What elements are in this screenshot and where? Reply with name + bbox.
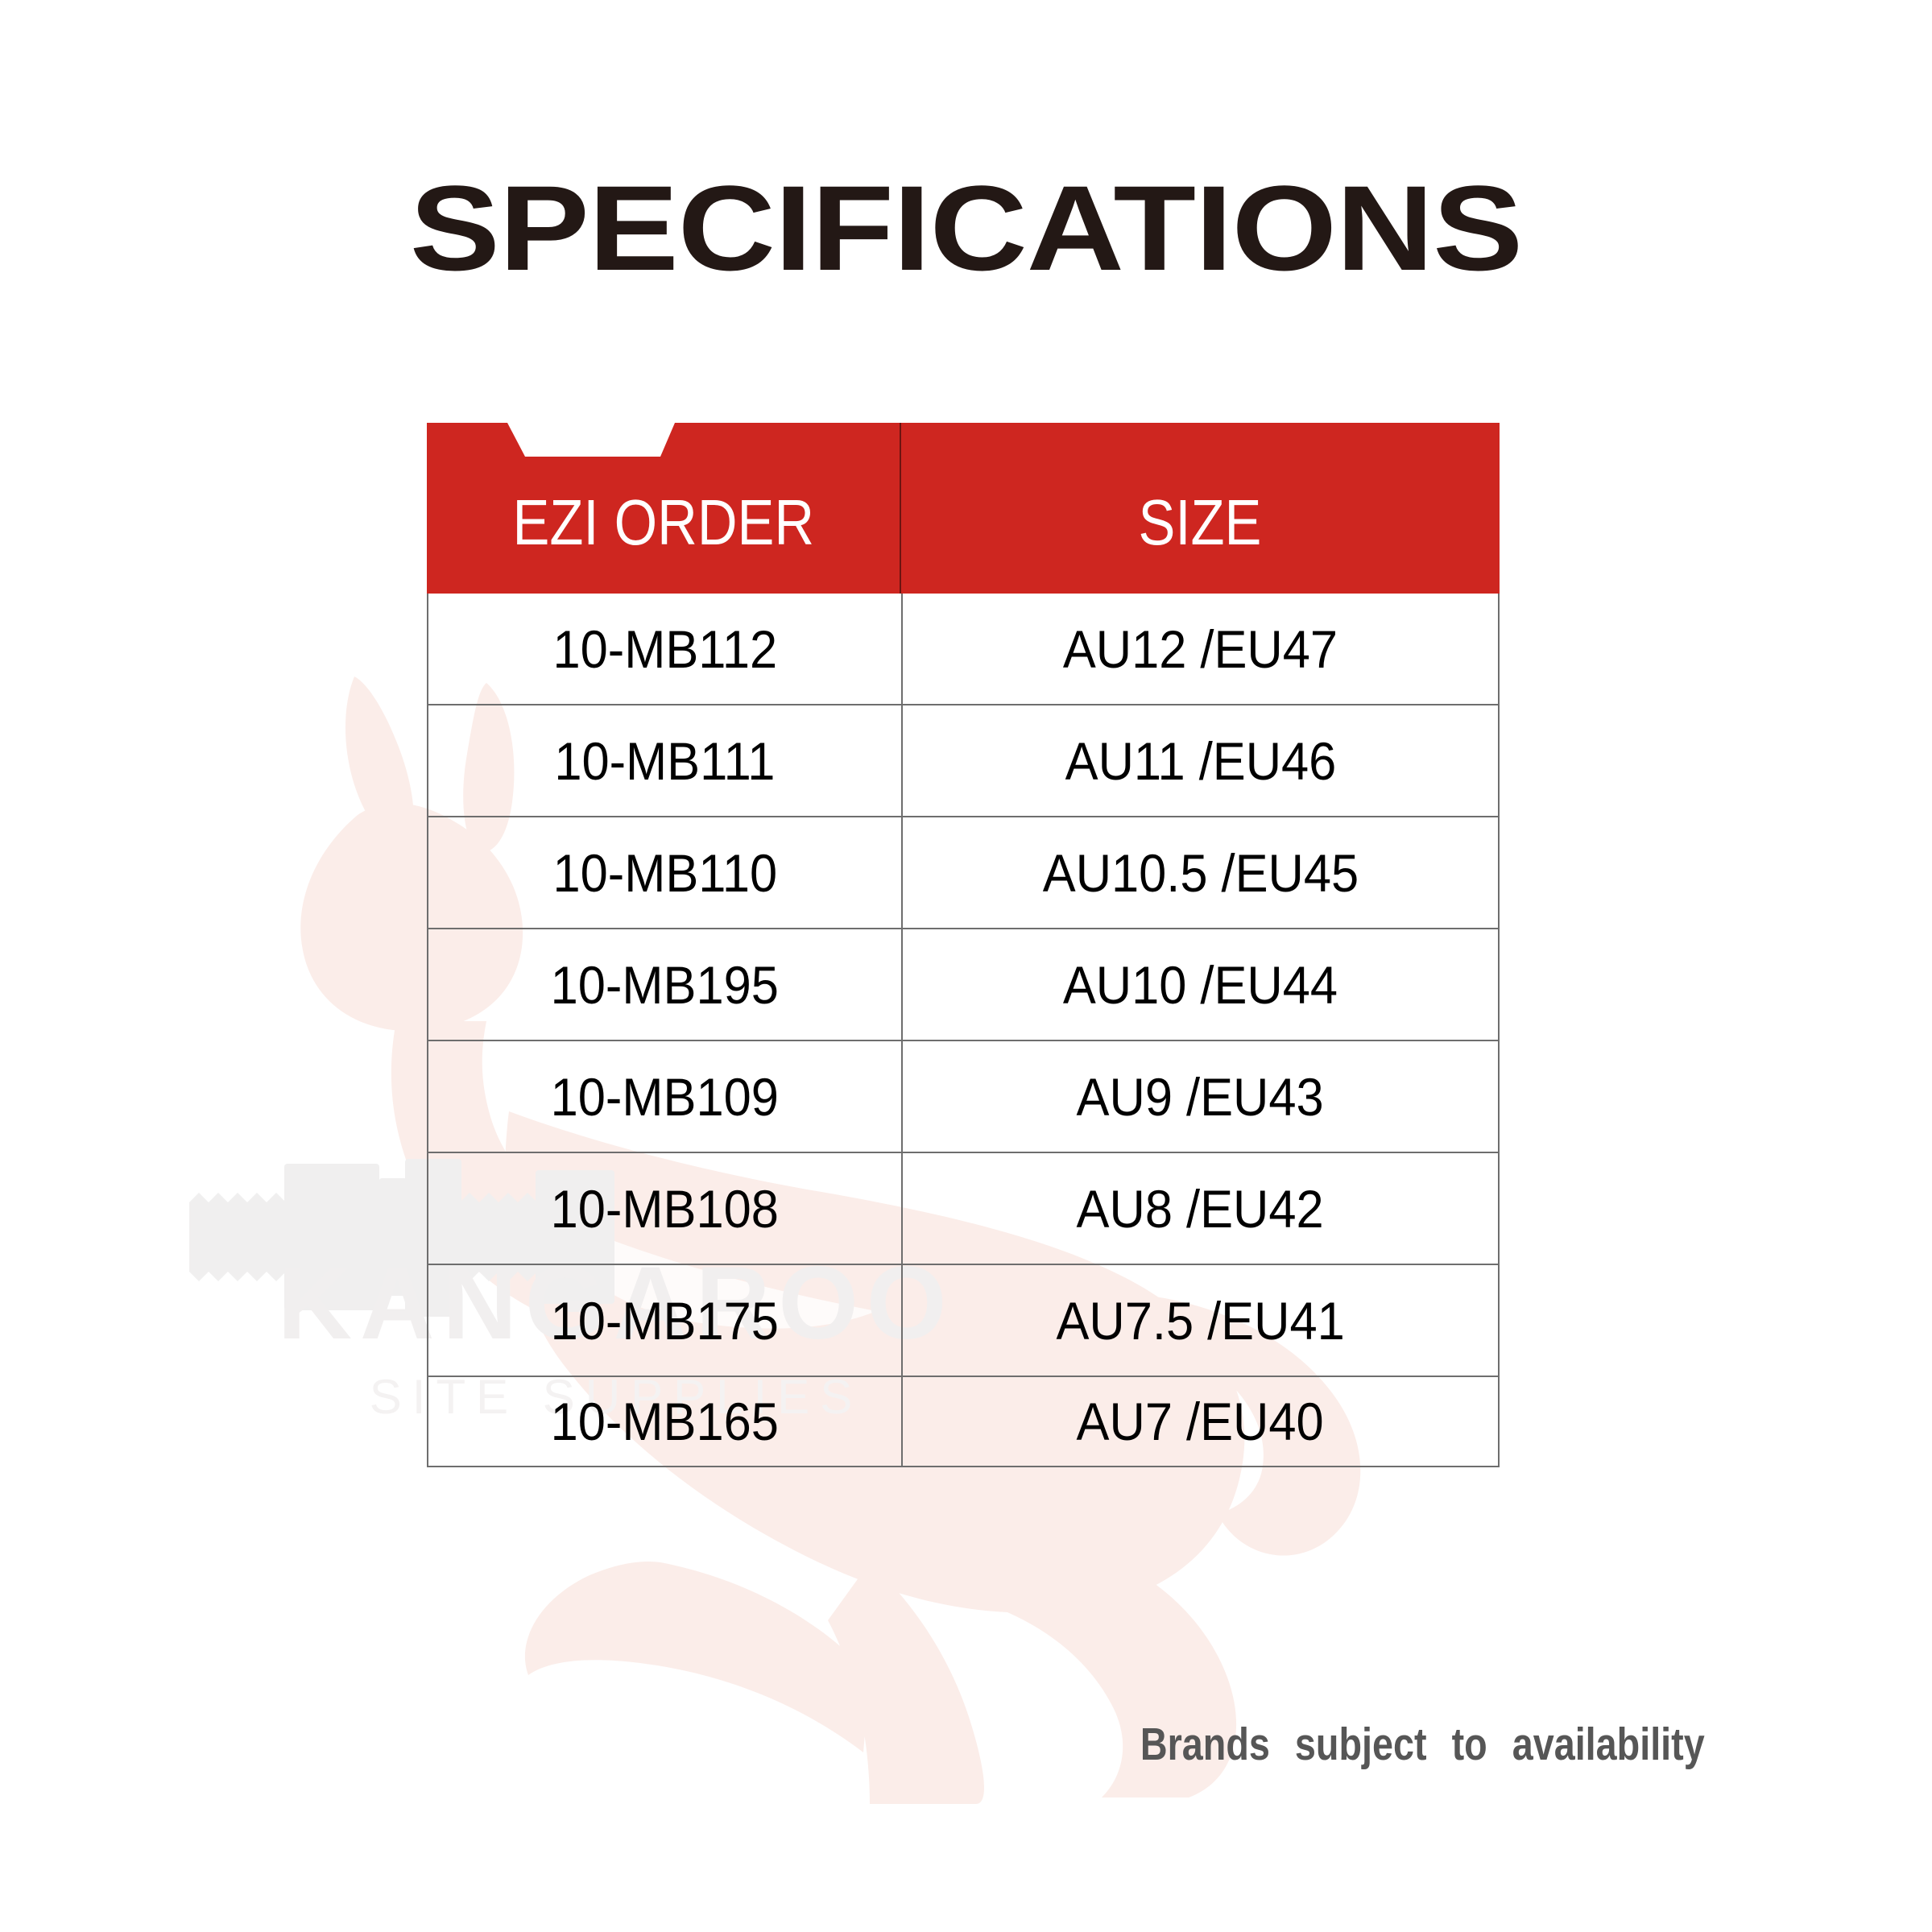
cell-size-text: AU11 /EU46 (1065, 730, 1336, 792)
cell-size: AU7 /EU40 (901, 1377, 1500, 1466)
cell-size: AU10 /EU44 (901, 929, 1500, 1040)
cell-size-text: AU8 /EU42 (1077, 1178, 1324, 1239)
page-title: SPECIFICATIONS (0, 172, 1932, 284)
cell-ezi-order-text: 10-MB195 (551, 954, 779, 1016)
table-row: 10-MB175 AU7.5 /EU41 (427, 1265, 1500, 1377)
cell-size-text: AU10 /EU44 (1063, 954, 1338, 1016)
cell-ezi-order: 10-MB108 (428, 1153, 901, 1264)
cell-size-text: AU9 /EU43 (1077, 1066, 1324, 1127)
cell-ezi-order: 10-MB165 (428, 1377, 901, 1466)
content-layer: SPECIFICATIONS EZI ORDER SIZE 10-MB112 A… (0, 0, 1932, 1932)
table-row: 10-MB165 AU7 /EU40 (427, 1377, 1500, 1467)
cell-size: AU7.5 /EU41 (901, 1265, 1500, 1376)
cell-size-text: AU7 /EU40 (1077, 1391, 1324, 1452)
cell-ezi-order: 10-MB110 (428, 817, 901, 928)
cell-ezi-order-text: 10-MB111 (554, 730, 775, 792)
cell-ezi-order: 10-MB195 (428, 929, 901, 1040)
table-row: 10-MB112 AU12 /EU47 (427, 594, 1500, 705)
table-row: 10-MB111 AU11 /EU46 (427, 705, 1500, 817)
cell-size: AU9 /EU43 (901, 1041, 1500, 1152)
table-row: 10-MB195 AU10 /EU44 (427, 929, 1500, 1041)
cell-ezi-order: 10-MB112 (428, 594, 901, 704)
column-header-ezi-order: EZI ORDER (427, 423, 900, 594)
column-header-ezi-order-label: EZI ORDER (512, 486, 814, 560)
cell-ezi-order: 10-MB175 (428, 1265, 901, 1376)
cell-size: AU8 /EU42 (901, 1153, 1500, 1264)
specifications-table: EZI ORDER SIZE 10-MB112 AU12 /EU47 10-MB… (427, 423, 1500, 1467)
table-row: 10-MB110 AU10.5 /EU45 (427, 817, 1500, 929)
cell-size: AU12 /EU47 (901, 594, 1500, 704)
cell-size-text: AU10.5 /EU45 (1042, 842, 1358, 904)
cell-ezi-order: 10-MB109 (428, 1041, 901, 1152)
availability-footnote: Brands subject to availability (1140, 1718, 1705, 1771)
cell-ezi-order-text: 10-MB175 (551, 1290, 779, 1351)
table-header-row: EZI ORDER SIZE (427, 423, 1500, 594)
cell-ezi-order: 10-MB111 (428, 705, 901, 816)
cell-size-text: AU7.5 /EU41 (1056, 1290, 1344, 1351)
cell-ezi-order-text: 10-MB110 (552, 842, 777, 904)
column-header-size-label: SIZE (1138, 486, 1261, 560)
cell-size-text: AU12 /EU47 (1063, 618, 1338, 680)
table-row: 10-MB108 AU8 /EU42 (427, 1153, 1500, 1265)
cell-size: AU10.5 /EU45 (901, 817, 1500, 928)
cell-ezi-order-text: 10-MB109 (551, 1066, 779, 1127)
cell-ezi-order-text: 10-MB165 (551, 1391, 779, 1452)
cell-ezi-order-text: 10-MB108 (551, 1178, 779, 1239)
cell-ezi-order-text: 10-MB112 (552, 618, 777, 680)
cell-size: AU11 /EU46 (901, 705, 1500, 816)
column-header-size: SIZE (900, 423, 1500, 594)
table-row: 10-MB109 AU9 /EU43 (427, 1041, 1500, 1153)
